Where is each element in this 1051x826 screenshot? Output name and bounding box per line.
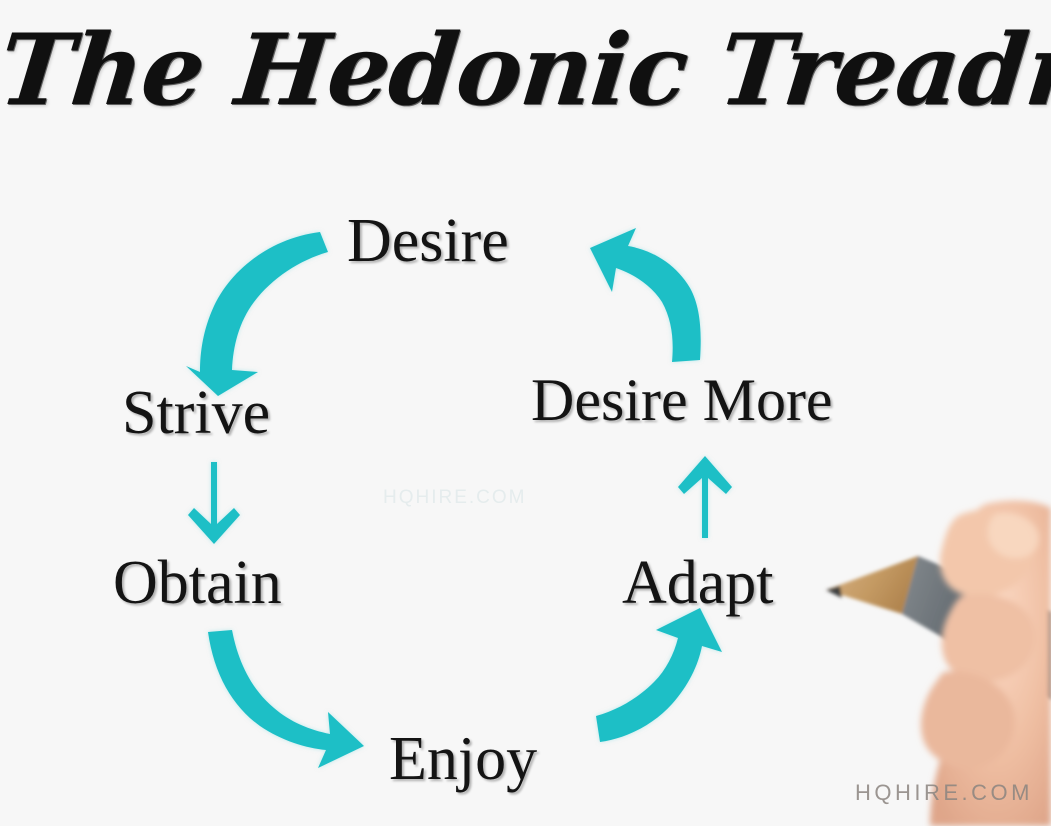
pencil bbox=[826, 556, 1051, 700]
poster-canvas: The Hedonic Treadmill HQHIRE.COM bbox=[0, 0, 1051, 826]
cycle-node-obtain[interactable]: Obtain bbox=[113, 548, 282, 619]
arrow-desire-more-to-desire bbox=[590, 228, 701, 362]
hand-palm bbox=[930, 501, 1051, 826]
pencil-barrel bbox=[902, 556, 1051, 700]
arrow-desire-to-strive bbox=[186, 232, 328, 396]
thumb bbox=[921, 671, 1015, 768]
knuckle-highlight bbox=[988, 513, 1039, 558]
cycle-node-desire[interactable]: Desire bbox=[347, 206, 509, 277]
cycle-node-enjoy[interactable]: Enjoy bbox=[389, 724, 537, 795]
corner-watermark: HQHIRE.COM bbox=[855, 780, 1033, 806]
hand bbox=[921, 501, 1051, 826]
arrow-adapt-to-desire-more bbox=[678, 456, 732, 538]
arrow-obtain-to-enjoy bbox=[208, 630, 364, 768]
cycle-node-desire-more[interactable]: Desire More bbox=[531, 366, 833, 435]
arrow-enjoy-to-adapt bbox=[596, 608, 722, 742]
pencil-tip bbox=[826, 586, 842, 598]
pencil-wood bbox=[826, 556, 918, 614]
page-title: The Hedonic Treadmill bbox=[0, 18, 1051, 124]
middle-finger bbox=[942, 594, 1035, 681]
center-watermark: HQHIRE.COM bbox=[383, 487, 527, 509]
cycle-node-adapt[interactable]: Adapt bbox=[622, 548, 774, 619]
cycle-node-strive[interactable]: Strive bbox=[122, 378, 270, 449]
arrow-strive-to-obtain bbox=[188, 462, 240, 544]
index-finger bbox=[940, 510, 1034, 597]
